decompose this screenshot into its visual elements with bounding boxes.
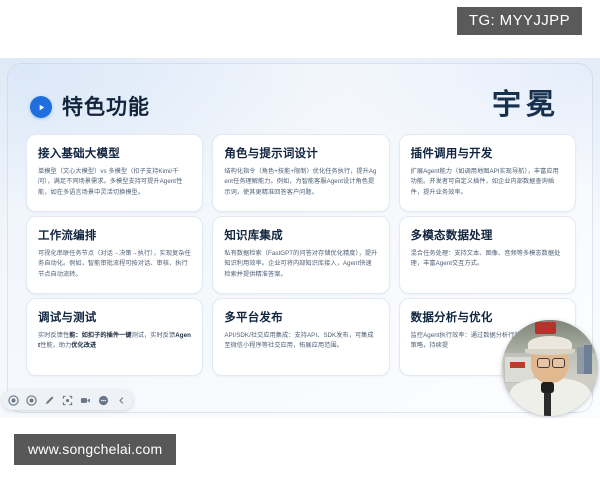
webcam-poster-accent: [510, 362, 525, 368]
recorder-toolbar[interactable]: [2, 390, 133, 410]
card-title: 多模态数据处理: [411, 230, 493, 243]
webcam-shelf-box: [535, 322, 556, 334]
screen-share-slide: 特色功能 宇冕 接入基础大模型 单模型（文心大模型）vs 多模型（扣子支持Kim…: [0, 58, 600, 418]
slide-heading: 特色功能: [30, 96, 150, 118]
card-body: 单模型（文心大模型）vs 多模型（扣子支持Kimi/千问），满足不同场景需求。多…: [38, 167, 191, 199]
card-title: 多平台发布: [224, 312, 283, 325]
card-body: 私有数据检索（FastGPT的问答对存储优化精度），提升知识利用效率。企业可将内…: [224, 249, 377, 281]
feature-card-grid: 接入基础大模型 单模型（文心大模型）vs 多模型（扣子支持Kimi/千问），满足…: [26, 134, 576, 376]
card-body: 扩展Agent能力（如调用地图API实现导航），丰富应用功能。开发者可自定义插件…: [411, 167, 564, 199]
focus-frame-icon[interactable]: [62, 395, 73, 406]
card-title: 数据分析与优化: [411, 312, 493, 325]
feature-card: 调试与测试 实时反馈性能：如扣子的插件一键测试，实时反馈Agent性能，助力优化…: [26, 298, 203, 376]
bottom-white-area: www.songchelai.com: [0, 418, 600, 480]
card-body-part: 测试，实时反馈: [132, 332, 176, 339]
card-body: API/SDK/社交应用集成：支持API、SDK发布，可集成至微信小程序等社交应…: [224, 331, 377, 352]
card-body-emphasis: 优化改进: [71, 342, 96, 349]
feature-card: 多模态数据处理 混合任务处理：支持文本、图像、音频等多模态数据处理，丰富Agen…: [399, 216, 576, 294]
card-body: 混合任务处理：支持文本、图像、音频等多模态数据处理，丰富Agent交互方式。: [411, 249, 564, 270]
webcam-book: [577, 347, 584, 374]
feature-card: 插件调用与开发 扩展Agent能力（如调用地图API实现导航），丰富应用功能。开…: [399, 134, 576, 212]
feature-card: 接入基础大模型 单模型（文心大模型）vs 多模型（扣子支持Kimi/千问），满足…: [26, 134, 203, 212]
card-title: 调试与测试: [38, 312, 97, 325]
card-body: 实时反馈性能：如扣子的插件一键测试，实时反馈Agent性能，助力优化改进: [38, 331, 191, 352]
website-url-badge: www.songchelai.com: [14, 434, 176, 465]
webcam-microphone-head: [541, 382, 553, 393]
pause-circle-icon[interactable]: [26, 395, 37, 406]
card-title: 插件调用与开发: [411, 148, 493, 161]
card-title: 知识库集成: [224, 230, 283, 243]
webcam-person-glasses: [552, 358, 566, 368]
feature-card: 角色与提示词设计 结构化指令（角色+技能+限制）优化任务执行，提升Agent任务…: [212, 134, 389, 212]
brand-logo: 宇冕: [492, 90, 560, 119]
card-body: 可视化串联任务节点（对话→决策→执行），实现复杂任务自动化。例如，智能审批流程可…: [38, 249, 191, 281]
card-body-emphasis: 能：如扣子的插件一键: [69, 332, 131, 339]
card-body: 结构化指令（角色+技能+限制）优化任务执行，提升Agent任务理解能力。例如，为…: [224, 167, 377, 199]
more-dots-icon[interactable]: [98, 395, 109, 406]
card-body-part: 性能，助力: [40, 342, 71, 349]
feature-card: 工作流编排 可视化串联任务节点（对话→决策→执行），实现复杂任务自动化。例如，智…: [26, 216, 203, 294]
card-title: 角色与提示词设计: [224, 148, 318, 161]
pencil-icon[interactable]: [44, 395, 55, 406]
card-body-part: 实时反馈性: [38, 332, 69, 339]
card-title: 工作流编排: [38, 230, 97, 243]
video-camera-icon[interactable]: [80, 395, 91, 406]
webcam-book: [584, 345, 593, 374]
feature-card: 多平台发布 API/SDK/社交应用集成：支持API、SDK发布，可集成至微信小…: [212, 298, 389, 376]
card-title: 接入基础大模型: [38, 148, 120, 161]
webcam-person-glasses: [537, 358, 551, 368]
page-title: 特色功能: [62, 97, 150, 118]
play-icon: [30, 96, 52, 118]
tg-handle-badge: TG: MYYJJPP: [457, 7, 582, 35]
feature-card: 知识库集成 私有数据检索（FastGPT的问答对存储优化精度），提升知识利用效率…: [212, 216, 389, 294]
presenter-webcam[interactable]: [502, 320, 598, 416]
webcam-person-cap-brim: [525, 349, 575, 355]
record-icon[interactable]: [8, 395, 19, 406]
collapse-chevron-icon[interactable]: [116, 395, 127, 406]
